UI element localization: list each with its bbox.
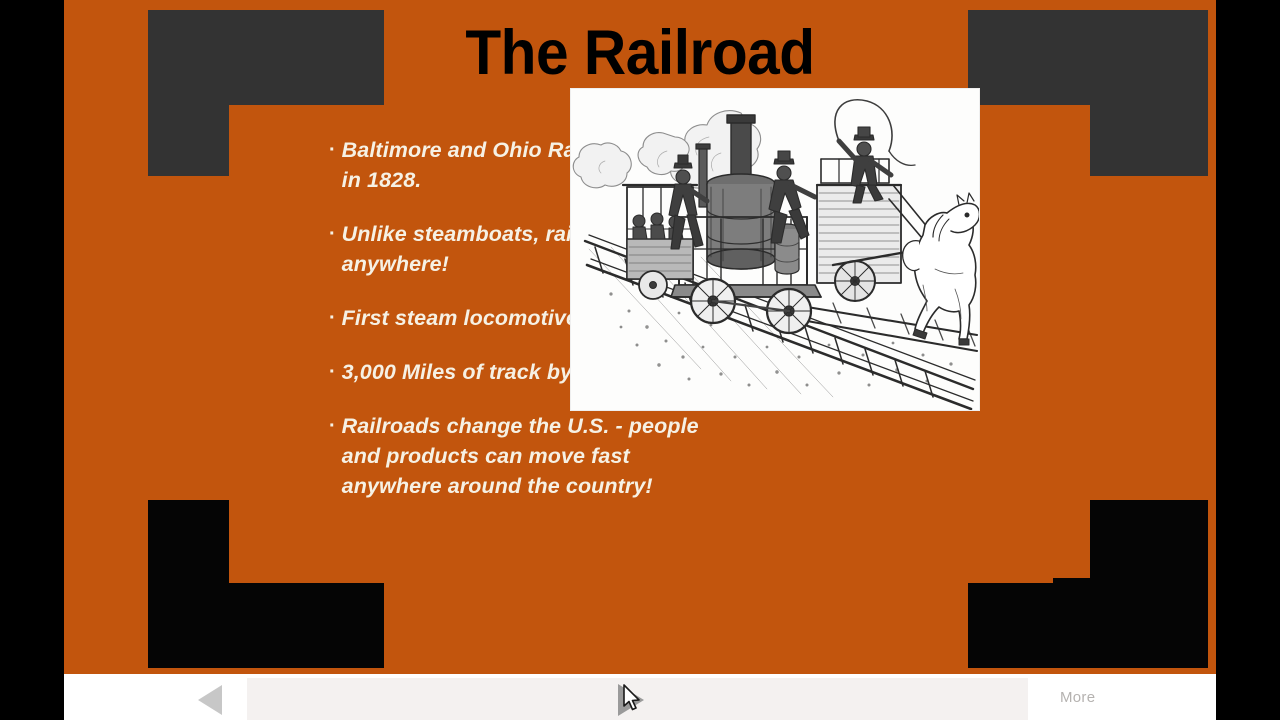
bullet-marker: ·	[329, 219, 336, 249]
more-button[interactable]: More	[1060, 689, 1095, 706]
letterbox-bar-right	[1216, 0, 1280, 720]
previous-slide-arrow-icon[interactable]	[198, 685, 222, 715]
bracket-arm-vertical	[1090, 500, 1208, 578]
bullet-marker: ·	[329, 357, 336, 387]
bracket-arm-horizontal	[148, 578, 384, 668]
locomotive-illustration	[570, 88, 980, 411]
slide-title: The Railroad	[104, 22, 1175, 85]
bracket-arm-vertical	[1090, 105, 1208, 176]
bullet-marker: ·	[329, 411, 336, 441]
bullet-marker: ·	[329, 303, 336, 333]
bullet-text: Railroads change the U.S. - people and p…	[342, 411, 734, 501]
video-player-viewport: The Railroad · Baltimore and Ohio Railro…	[0, 0, 1280, 720]
presentation-slide: The Railroad · Baltimore and Ohio Railro…	[64, 0, 1216, 674]
list-item: · Railroads change the U.S. - people and…	[329, 411, 734, 501]
letterbox-bar-left	[0, 0, 64, 720]
mouse-cursor-pointer	[622, 684, 642, 717]
bracket-arm-horizontal	[968, 578, 1208, 668]
bullet-marker: ·	[329, 135, 336, 165]
